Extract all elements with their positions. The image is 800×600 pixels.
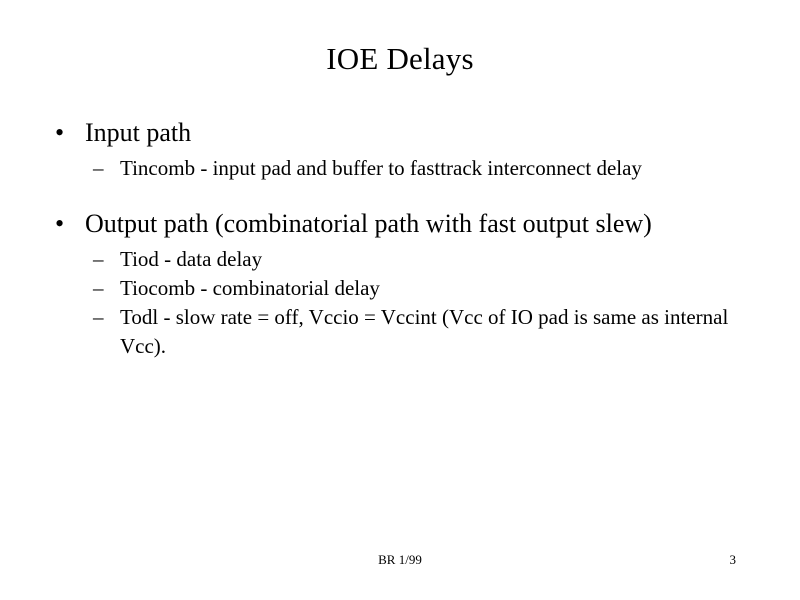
- bullet-level2-text: Todl - slow rate = off, Vccio = Vccint (…: [120, 305, 728, 358]
- bullet-level2-text: Tiocomb - combinatorial delay: [120, 276, 380, 300]
- bullet-level1-text: Output path (combinatorial path with fas…: [85, 209, 652, 238]
- bullet-level2: – Tiod - data delay: [0, 245, 800, 274]
- sub-bullet-list: – Tincomb - input pad and buffer to fast…: [0, 154, 800, 183]
- bullet-level2: – Tiocomb - combinatorial delay: [0, 274, 800, 303]
- bullet-level1: • Output path (combinatorial path with f…: [0, 207, 800, 241]
- bullet-level2: – Todl - slow rate = off, Vccio = Vccint…: [0, 303, 800, 361]
- block-spacer: [0, 193, 800, 207]
- bullet-dot-icon: •: [55, 116, 64, 150]
- slide: IOE Delays • Input path – Tincomb - inpu…: [0, 0, 800, 600]
- slide-body: • Input path – Tincomb - input pad and b…: [0, 116, 800, 371]
- bullet-dash-icon: –: [93, 245, 104, 274]
- sub-bullet-list: – Tiod - data delay – Tiocomb - combinat…: [0, 245, 800, 361]
- page-number: 3: [730, 551, 737, 568]
- bullet-level2-text: Tiod - data delay: [120, 247, 262, 271]
- page-title: IOE Delays: [0, 40, 800, 78]
- footer-center-text: BR 1/99: [0, 551, 800, 568]
- bullet-group: • Output path (combinatorial path with f…: [0, 207, 800, 361]
- bullet-dot-icon: •: [55, 207, 64, 241]
- bullet-dash-icon: –: [93, 303, 104, 332]
- bullet-level1: • Input path: [0, 116, 800, 150]
- bullet-level1-text: Input path: [85, 118, 191, 147]
- bullet-dash-icon: –: [93, 274, 104, 303]
- bullet-level2-text: Tincomb - input pad and buffer to fasttr…: [120, 156, 642, 180]
- bullet-group: • Input path – Tincomb - input pad and b…: [0, 116, 800, 183]
- bullet-dash-icon: –: [93, 154, 104, 183]
- bullet-level2: – Tincomb - input pad and buffer to fast…: [0, 154, 800, 183]
